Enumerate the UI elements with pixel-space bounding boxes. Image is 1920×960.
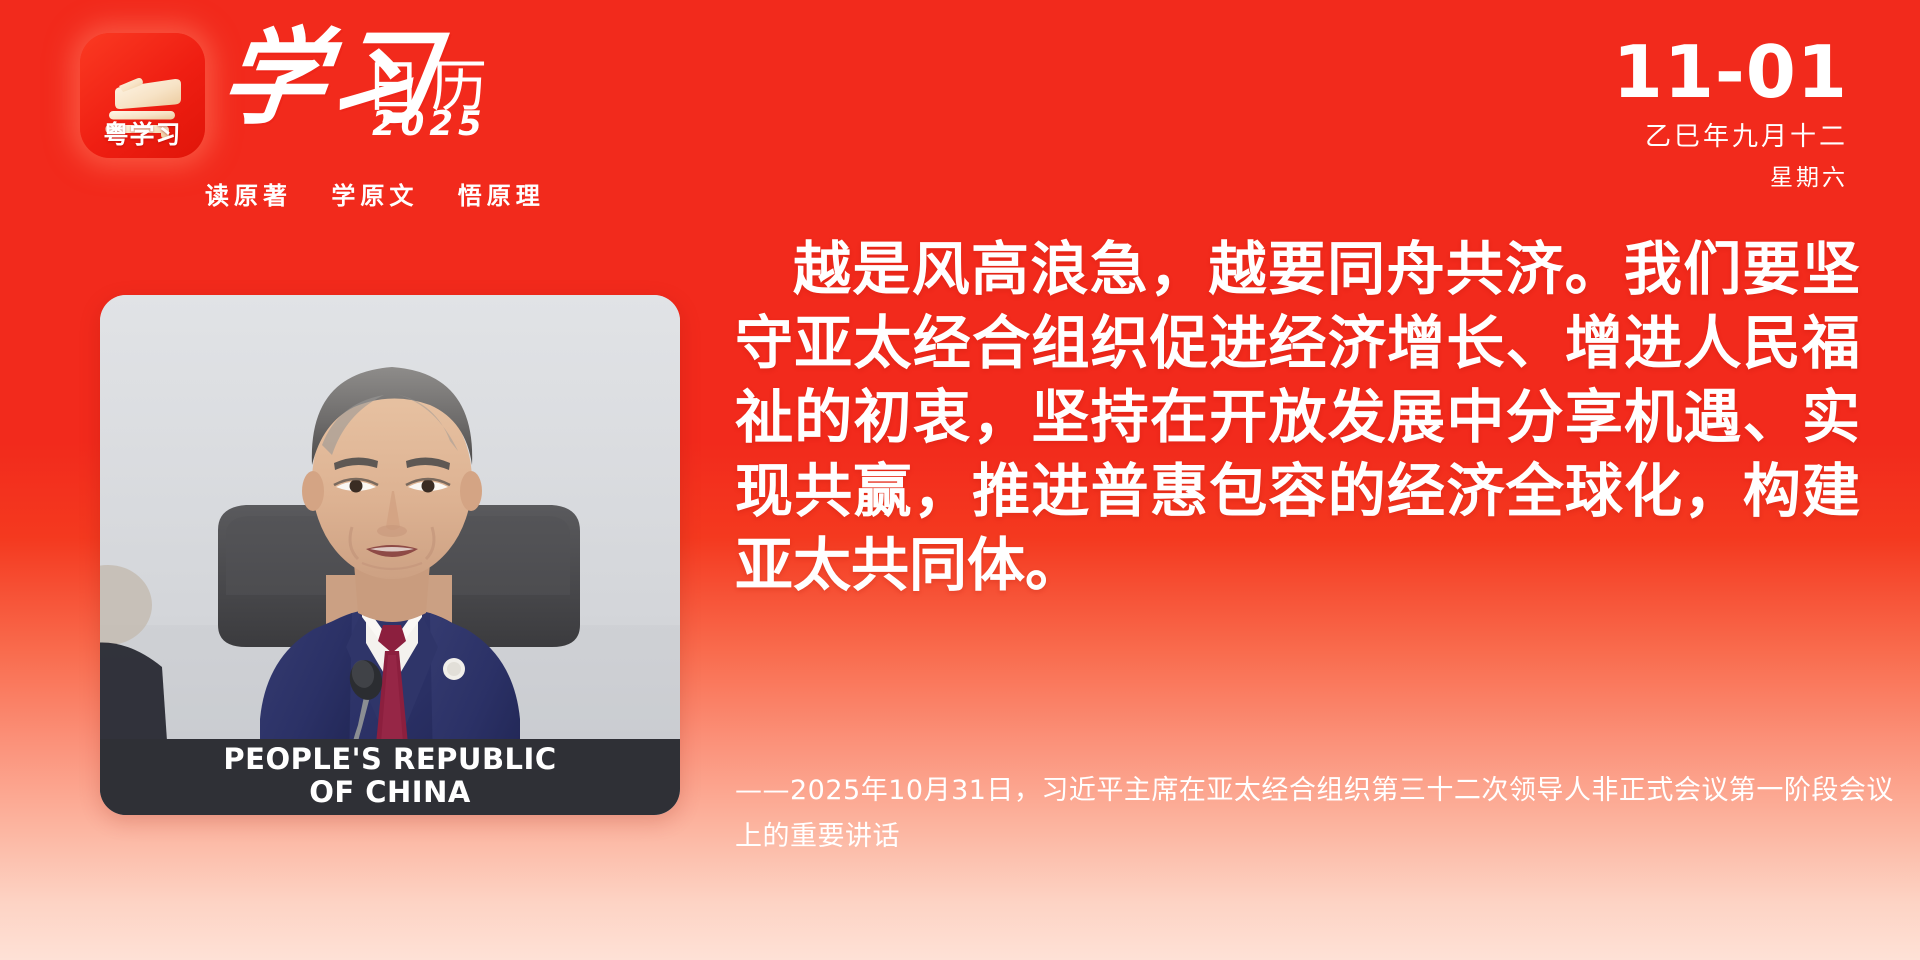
slogan-part-3: 悟原理	[458, 182, 545, 210]
slogan-part-2: 学原文	[331, 182, 418, 210]
quote-block: 越是风高浪急，越要同舟共济。我们要坚守亚太经合组织促进经济增长、增进人民福祉的初…	[735, 232, 1860, 602]
slogan-part-1: 读原著	[205, 182, 292, 210]
brand-year: 2025	[372, 104, 487, 144]
feature-photo: PEOPLE'S REPUBLIC PEOPLE'S REPUBLIC OF C…	[100, 295, 680, 815]
quote-text: 越是风高浪急，越要同舟共济。我们要坚守亚太经合组织促进经济增长、增进人民福祉的初…	[735, 232, 1860, 602]
poster-header: 粤学习 学习 日历 2025 读原著 学原文 悟原理 11-01 乙巳年九月十二…	[0, 0, 1920, 215]
logo-badge-label: 粤学习	[80, 115, 205, 151]
date-gregorian: 11-01	[1613, 36, 1848, 108]
date-lunar: 乙巳年九月十二	[1613, 122, 1848, 153]
photo-illustration: PEOPLE'S REPUBLIC	[100, 295, 680, 815]
date-weekday: 星期六	[1613, 165, 1848, 193]
nameplate-line-2: OF CHINA	[100, 772, 680, 815]
quote-attribution: ——2025年10月31日，习近平主席在亚太经合组织第三十二次领导人非正式会议第…	[735, 768, 1895, 860]
calendar-poster: 粤学习 学习 日历 2025 读原著 学原文 悟原理 11-01 乙巳年九月十二…	[0, 0, 1920, 960]
brand-slogan: 读原著 学原文 悟原理	[205, 176, 545, 211]
date-block: 11-01 乙巳年九月十二 星期六	[1613, 36, 1848, 193]
app-logo-badge[interactable]: 粤学习	[80, 33, 205, 158]
